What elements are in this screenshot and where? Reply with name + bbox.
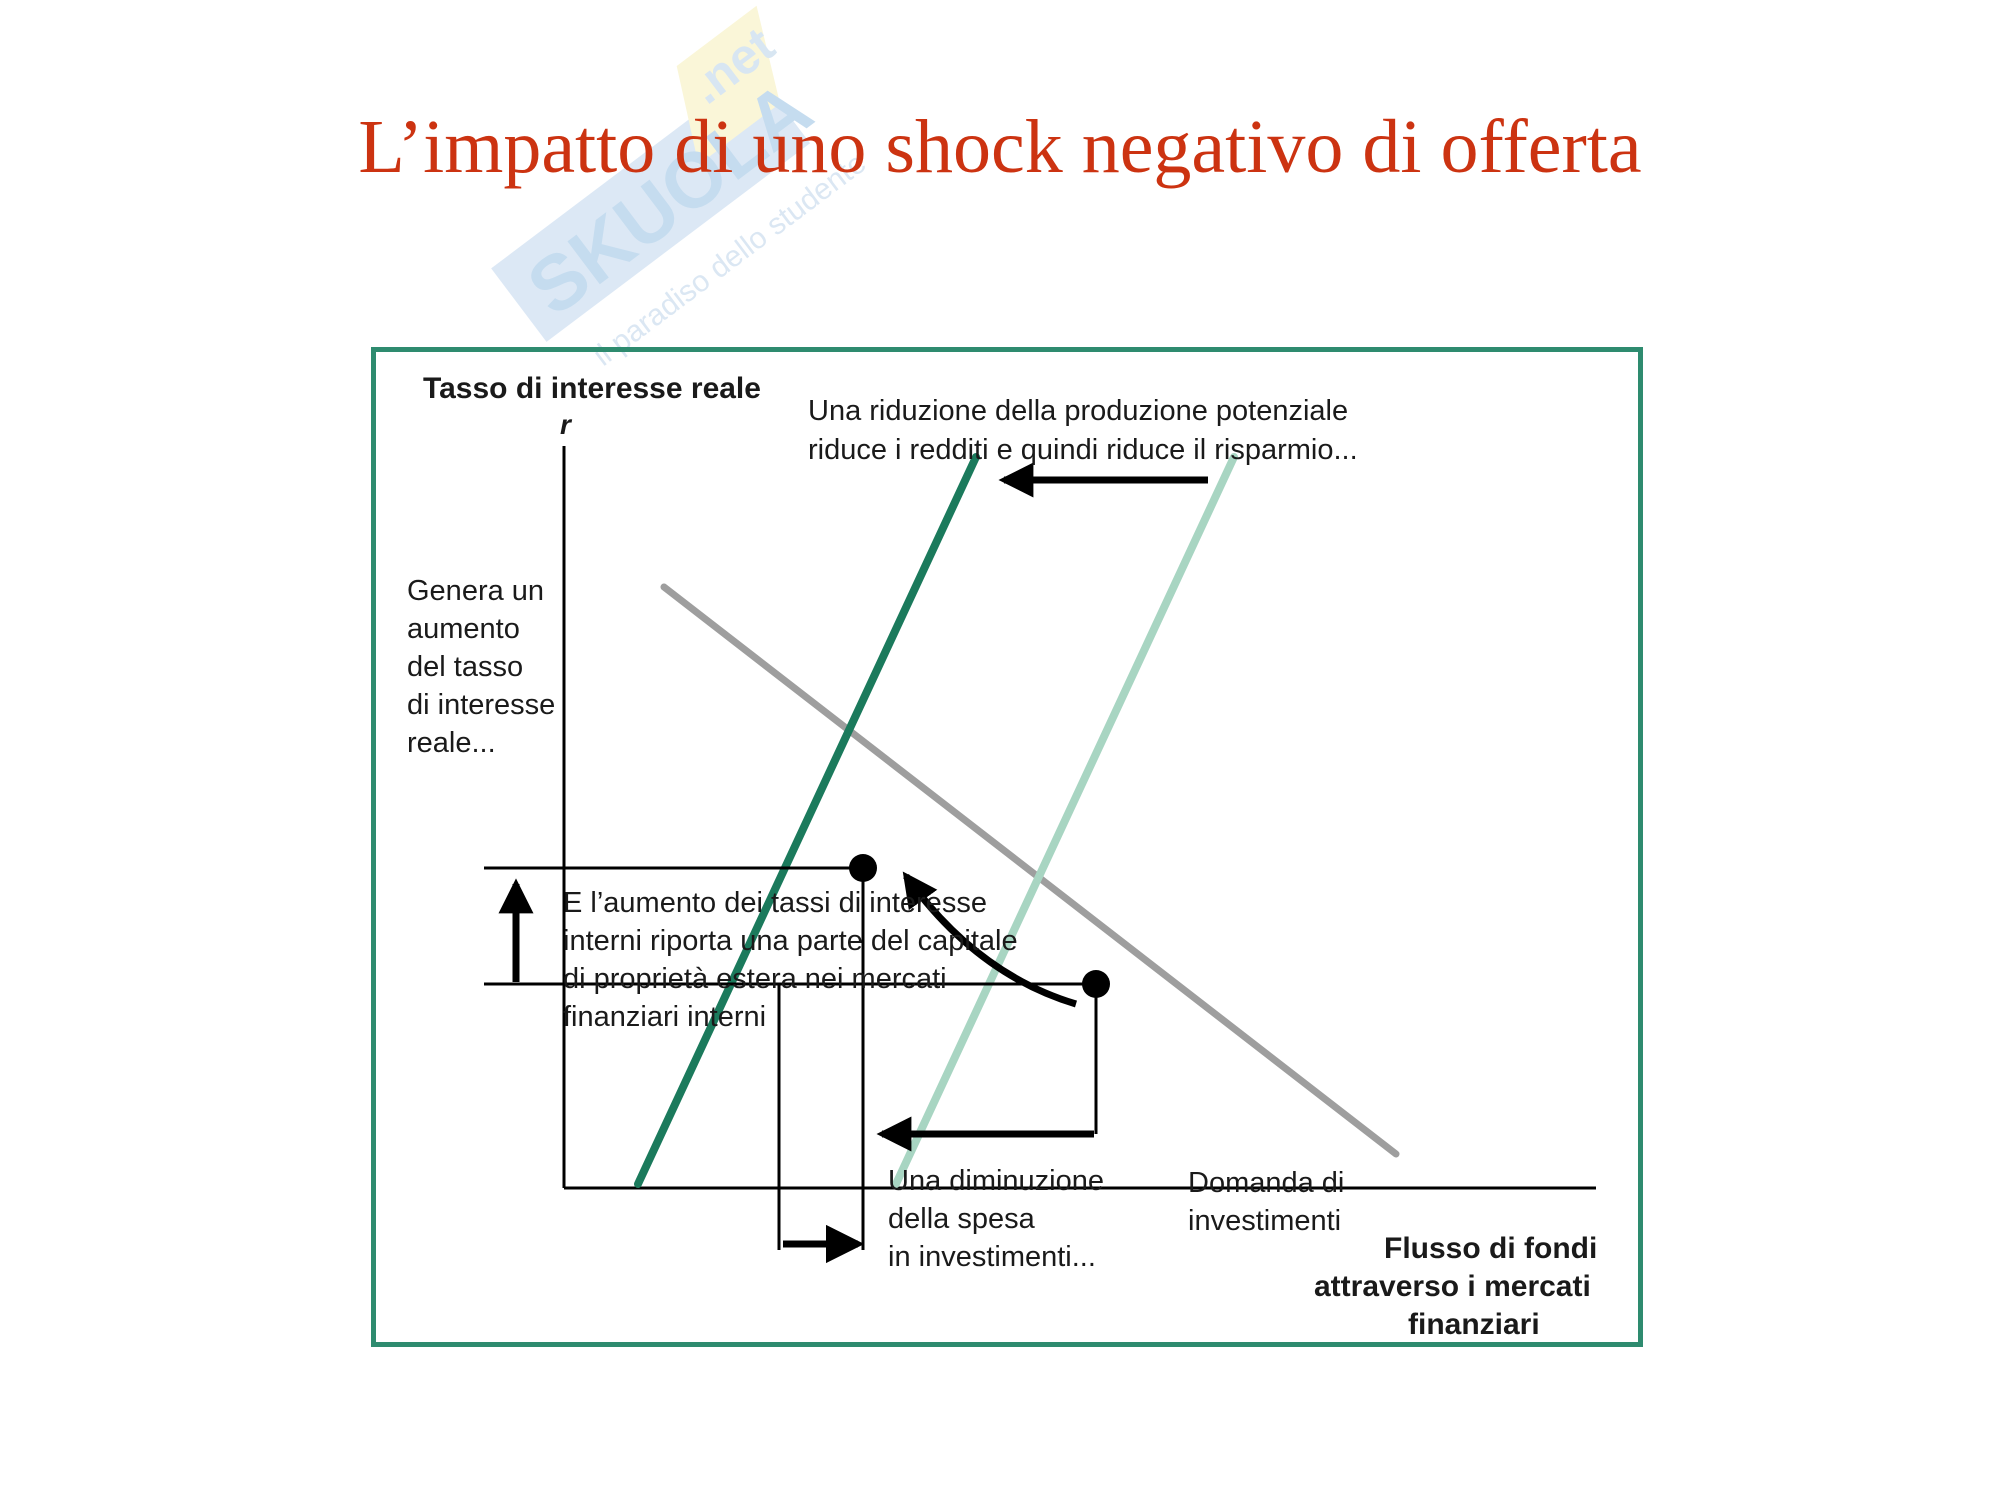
annotation-investment-drop-line3: in investimenti... xyxy=(888,1241,1096,1273)
slide-title: L’impatto di uno shock negativo di offer… xyxy=(0,108,2000,188)
x-axis-title-line1: Flusso di fondi xyxy=(1384,1232,1597,1265)
y-axis-symbol: r xyxy=(560,409,573,440)
annotation-demand-curve-line1: Domanda di xyxy=(1188,1167,1344,1199)
y-axis-title: Tasso di interesse reale xyxy=(423,372,761,405)
figure-frame: Tasso di interesse reale r Una riduzione… xyxy=(371,347,1643,1347)
annotation-supply-shift-line2: riduce i redditi e quindi riduce il risp… xyxy=(808,434,1358,466)
investment-demand-curve xyxy=(664,587,1396,1154)
initial-equilibrium-point xyxy=(1082,970,1110,998)
watermark-domain: .net xyxy=(680,16,785,114)
saving-curve-after-shock xyxy=(638,457,976,1184)
new-equilibrium-point xyxy=(849,854,877,882)
annotation-demand-curve-line2: investimenti xyxy=(1188,1205,1341,1237)
x-axis-title-line3: finanziari xyxy=(1408,1308,1540,1341)
annotation-investment-drop-line2: della spesa xyxy=(888,1203,1036,1235)
annotation-investment-drop-line1: Una diminuzione xyxy=(888,1165,1104,1197)
annotation-supply-shift-line1: Una riduzione della produzione potenzial… xyxy=(808,395,1348,427)
economics-diagram: Tasso di interesse reale r Una riduzione… xyxy=(376,352,1638,1342)
x-axis-title-line2: attraverso i mercati xyxy=(1314,1270,1591,1303)
saving-curve-initial xyxy=(896,457,1234,1184)
